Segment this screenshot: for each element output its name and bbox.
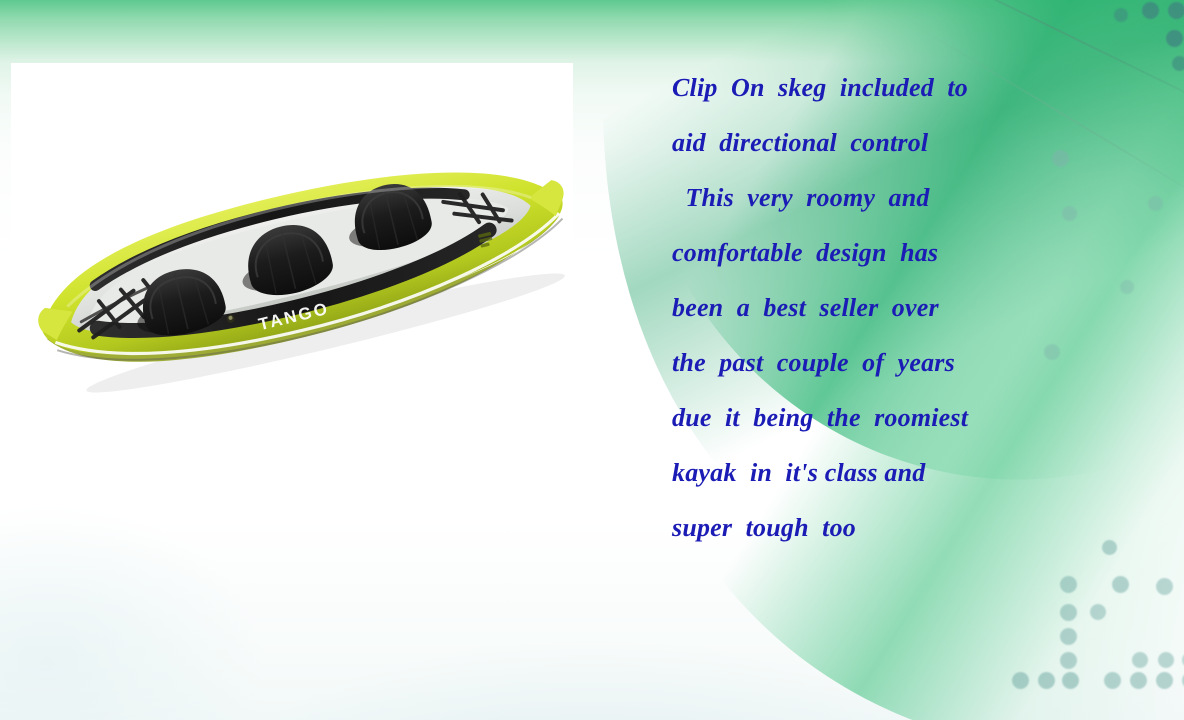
decorative-dot	[1044, 344, 1060, 360]
decorative-dot	[1112, 576, 1129, 593]
decorative-dot	[1156, 672, 1173, 689]
decorative-dot	[1130, 672, 1147, 689]
decorative-dot	[1156, 578, 1173, 595]
decorative-dot	[1090, 604, 1106, 620]
decorative-dot	[1104, 672, 1121, 689]
decorative-dot	[1172, 56, 1184, 71]
product-image-panel: TANGO	[11, 63, 573, 423]
decorative-dot	[1158, 652, 1174, 668]
caption-line: due it being the roomiest	[672, 390, 1042, 445]
decorative-dot	[1166, 30, 1183, 47]
decorative-dot	[1052, 150, 1069, 167]
decorative-dot	[1132, 652, 1148, 668]
kayak-illustration: TANGO	[11, 63, 573, 423]
decorative-dot	[1062, 206, 1077, 221]
decorative-dot	[1168, 2, 1184, 19]
caption-text-block: Clip On skeg included toaid directional …	[672, 60, 1042, 555]
decorative-dot	[1148, 196, 1163, 211]
kayak-photo: TANGO	[11, 63, 573, 423]
decorative-dot	[1060, 652, 1077, 669]
decorative-dot	[1120, 280, 1134, 294]
decorative-dot	[1012, 672, 1029, 689]
decorative-dot	[1060, 576, 1077, 593]
decorative-dot	[1060, 628, 1077, 645]
caption-line: kayak in it's class and	[672, 445, 1042, 500]
caption-line: This very roomy and	[672, 170, 1042, 225]
decorative-dot	[1142, 2, 1159, 19]
decorative-dot	[1060, 604, 1077, 621]
caption-line: Clip On skeg included to	[672, 60, 1042, 115]
decorative-dot	[1062, 672, 1079, 689]
caption-line: aid directional control	[672, 115, 1042, 170]
decorative-dot	[1114, 8, 1128, 22]
decorative-dot	[1102, 540, 1117, 555]
caption-line: comfortable design has	[672, 225, 1042, 280]
caption-line: the past couple of years	[672, 335, 1042, 390]
kayak-svg: TANGO	[11, 63, 573, 423]
caption-line: super tough too	[672, 500, 1042, 555]
decorative-dot	[1038, 672, 1055, 689]
slide-canvas: TANGO Clip On skeg included toaid direct…	[0, 0, 1184, 720]
caption-line: been a best seller over	[672, 280, 1042, 335]
